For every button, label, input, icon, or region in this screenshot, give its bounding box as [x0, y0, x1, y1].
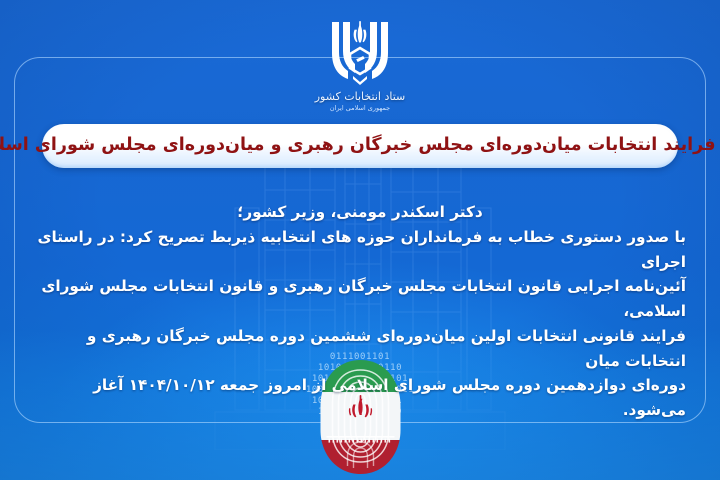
iran-election-headquarters-emblem-icon [323, 18, 397, 90]
body-line: آئین‌نامه اجرایی قانون انتخابات مجلس خبر… [34, 274, 686, 324]
announcement-body: دکتر اسکندر مومنی، وزیر کشور؛ با صدور دس… [34, 200, 686, 423]
body-line: با صدور دستوری خطاب به فرمانداران حوزه ه… [34, 225, 686, 275]
emblem-caption: ستاد انتخابات کشور [295, 91, 425, 103]
page-title: آغاز فرایند انتخابات میان‌دوره‌ای مجلس خ… [0, 136, 720, 155]
body-line: دوره‌ای دوازدهمین دوره مجلس شورای اسلامی… [34, 373, 686, 423]
emblem-block: ستاد انتخابات کشور جمهوری اسلامی ایران [295, 18, 425, 112]
body-line: دکتر اسکندر مومنی، وزیر کشور؛ [34, 200, 686, 225]
emblem-subcaption: جمهوری اسلامی ایران [295, 104, 425, 112]
title-banner: آغاز فرایند انتخابات میان‌دوره‌ای مجلس خ… [42, 124, 678, 168]
body-line: فرایند قانونی انتخابات اولین میان‌دوره‌ا… [34, 324, 686, 374]
poster-canvas: ستاد انتخابات کشور جمهوری اسلامی ایران آ… [0, 0, 720, 480]
